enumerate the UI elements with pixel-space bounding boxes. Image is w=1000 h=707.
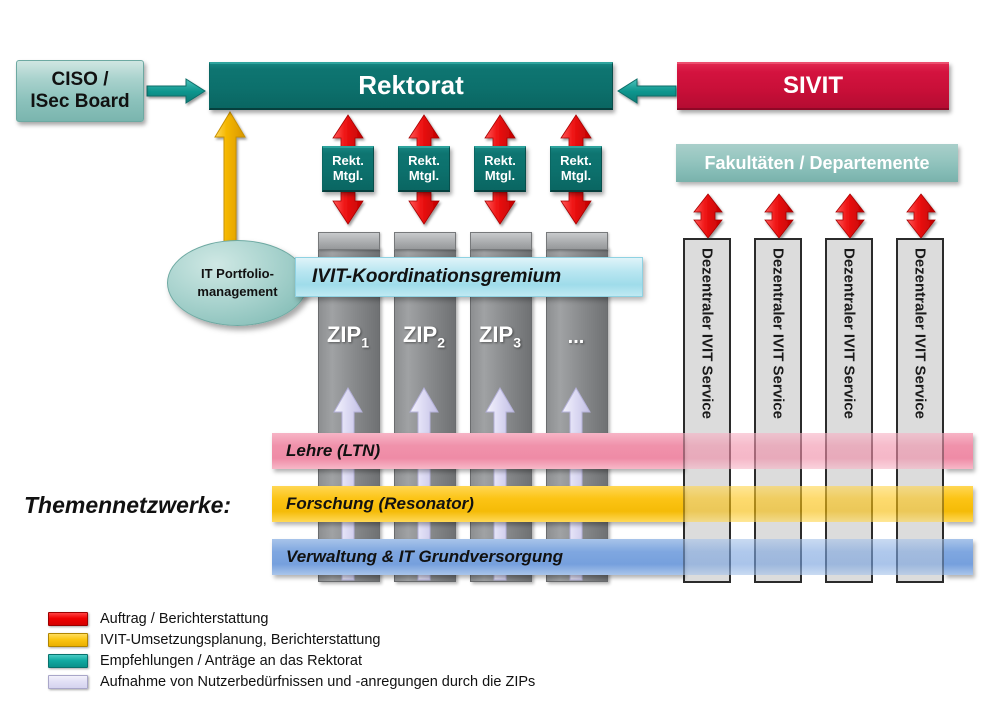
portfolio-line-1: IT Portfolio- (201, 266, 274, 281)
legend-label-auftrag: Auftrag / Berichterstattung (100, 611, 268, 627)
themennetzwerke-heading: Themennetzwerke: (24, 492, 231, 519)
rekt-mtgl-box-2[interactable]: Rekt. Mtgl. (398, 146, 450, 192)
zip-label-text-4: ... (568, 326, 585, 348)
dezentraler-ivit-service-label-2: Dezentraler IVIT Service (770, 248, 787, 419)
theme-bar-forschung-label: Forschung (Resonator) (286, 494, 474, 514)
zip-label-3: ZIP3 (470, 322, 530, 350)
legend-swatch-lavender (48, 675, 88, 689)
zip-label-2: ZIP2 (394, 322, 454, 350)
legend-label-empfehlungen: Empfehlungen / Anträge an das Rektorat (100, 653, 362, 669)
portfolio-line-2: management (197, 284, 277, 299)
rekt-mtgl-line-2-1: Rekt. (408, 154, 440, 169)
ciso-line-1: CISO / (51, 69, 108, 91)
sivit-label: SIVIT (783, 72, 843, 100)
legend: Auftrag / Berichterstattung IVIT-Umsetzu… (48, 608, 535, 692)
dezentraler-ivit-service-label-4: Dezentraler IVIT Service (912, 248, 929, 419)
theme-bar-verwaltung-overlay (683, 539, 944, 575)
rekt-mtgl-line-1-1: Rekt. (332, 154, 364, 169)
ciso-isec-board-box[interactable]: CISO / ISec Board (16, 60, 144, 122)
theme-bar-lehre-label: Lehre (LTN) (286, 441, 380, 461)
zip-label-text-2: ZIP (403, 322, 437, 347)
rekt-mtgl-line-3-2: Mtgl. (485, 169, 515, 184)
zip-label-sub-3: 3 (513, 334, 521, 350)
zip-label-text-3: ZIP (479, 322, 513, 347)
rekt-mtgl-line-2-2: Mtgl. (409, 169, 439, 184)
theme-bar-verwaltung-label: Verwaltung & IT Grundversorgung (286, 547, 563, 567)
rekt-mtgl-line-1-2: Mtgl. (333, 169, 363, 184)
zip-label-1: ZIP1 (318, 322, 378, 350)
it-portfoliomanagement-ellipse[interactable]: IT Portfolio- management (167, 240, 308, 326)
zip-label-4: ... (546, 326, 606, 351)
rekt-mtgl-line-4-2: Mtgl. (561, 169, 591, 184)
legend-label-umsetzungsplanung: IVIT-Umsetzungsplanung, Berichterstattun… (100, 632, 380, 648)
legend-label-aufnahme: Aufnahme von Nutzerbedürfnissen und -anr… (100, 674, 535, 690)
ivit-koordinationsgremium-bar[interactable]: IVIT-Koordinationsgremium (295, 257, 643, 297)
fakultaeten-label: Fakultäten / Departemente (704, 153, 929, 174)
theme-bar-forschung[interactable]: Forschung (Resonator) (272, 486, 683, 522)
zip-label-sub-1: 1 (361, 334, 369, 350)
legend-swatch-yellow (48, 633, 88, 647)
rektorat-box[interactable]: Rektorat (209, 62, 613, 110)
ivit-koordinationsgremium-label: IVIT-Koordinationsgremium (296, 266, 561, 288)
rekt-mtgl-line-4-1: Rekt. (560, 154, 592, 169)
dezentraler-ivit-service-box-1[interactable]: Dezentraler IVIT Service (683, 238, 731, 583)
dezentraler-ivit-service-label-3: Dezentraler IVIT Service (841, 248, 858, 419)
fakultaeten-departemente-box[interactable]: Fakultäten / Departemente (676, 144, 958, 182)
legend-row-umsetzungsplanung: IVIT-Umsetzungsplanung, Berichterstattun… (48, 629, 535, 650)
sivit-box[interactable]: SIVIT (677, 62, 949, 110)
theme-bar-verwaltung-tail (944, 539, 973, 575)
rekt-mtgl-box-1[interactable]: Rekt. Mtgl. (322, 146, 374, 192)
diagram-canvas: ZIP1 ZIP2 ZIP3 ... CISO / ISec Board Rek… (0, 0, 1000, 707)
rekt-mtgl-box-3[interactable]: Rekt. Mtgl. (474, 146, 526, 192)
legend-row-auftrag: Auftrag / Berichterstattung (48, 608, 535, 629)
legend-swatch-teal (48, 654, 88, 668)
legend-swatch-red (48, 612, 88, 626)
theme-bar-verwaltung[interactable]: Verwaltung & IT Grundversorgung (272, 539, 683, 575)
theme-bar-lehre-tail (944, 433, 973, 469)
dezentraler-ivit-service-box-3[interactable]: Dezentraler IVIT Service (825, 238, 873, 583)
zip-label-text-1: ZIP (327, 322, 361, 347)
ciso-line-2: ISec Board (30, 91, 129, 113)
legend-row-empfehlungen: Empfehlungen / Anträge an das Rektorat (48, 650, 535, 671)
rekt-mtgl-box-4[interactable]: Rekt. Mtgl. (550, 146, 602, 192)
legend-row-aufnahme: Aufnahme von Nutzerbedürfnissen und -anr… (48, 671, 535, 692)
rekt-mtgl-line-3-1: Rekt. (484, 154, 516, 169)
theme-bar-lehre[interactable]: Lehre (LTN) (272, 433, 683, 469)
theme-bar-forschung-tail (944, 486, 973, 522)
dezentraler-ivit-service-box-4[interactable]: Dezentraler IVIT Service (896, 238, 944, 583)
dezentraler-ivit-service-label-1: Dezentraler IVIT Service (699, 248, 716, 419)
zip-label-sub-2: 2 (437, 334, 445, 350)
theme-bar-lehre-overlay (683, 433, 944, 469)
rektorat-label: Rektorat (358, 71, 463, 101)
theme-bar-forschung-overlay (683, 486, 944, 522)
dezentraler-ivit-service-box-2[interactable]: Dezentraler IVIT Service (754, 238, 802, 583)
